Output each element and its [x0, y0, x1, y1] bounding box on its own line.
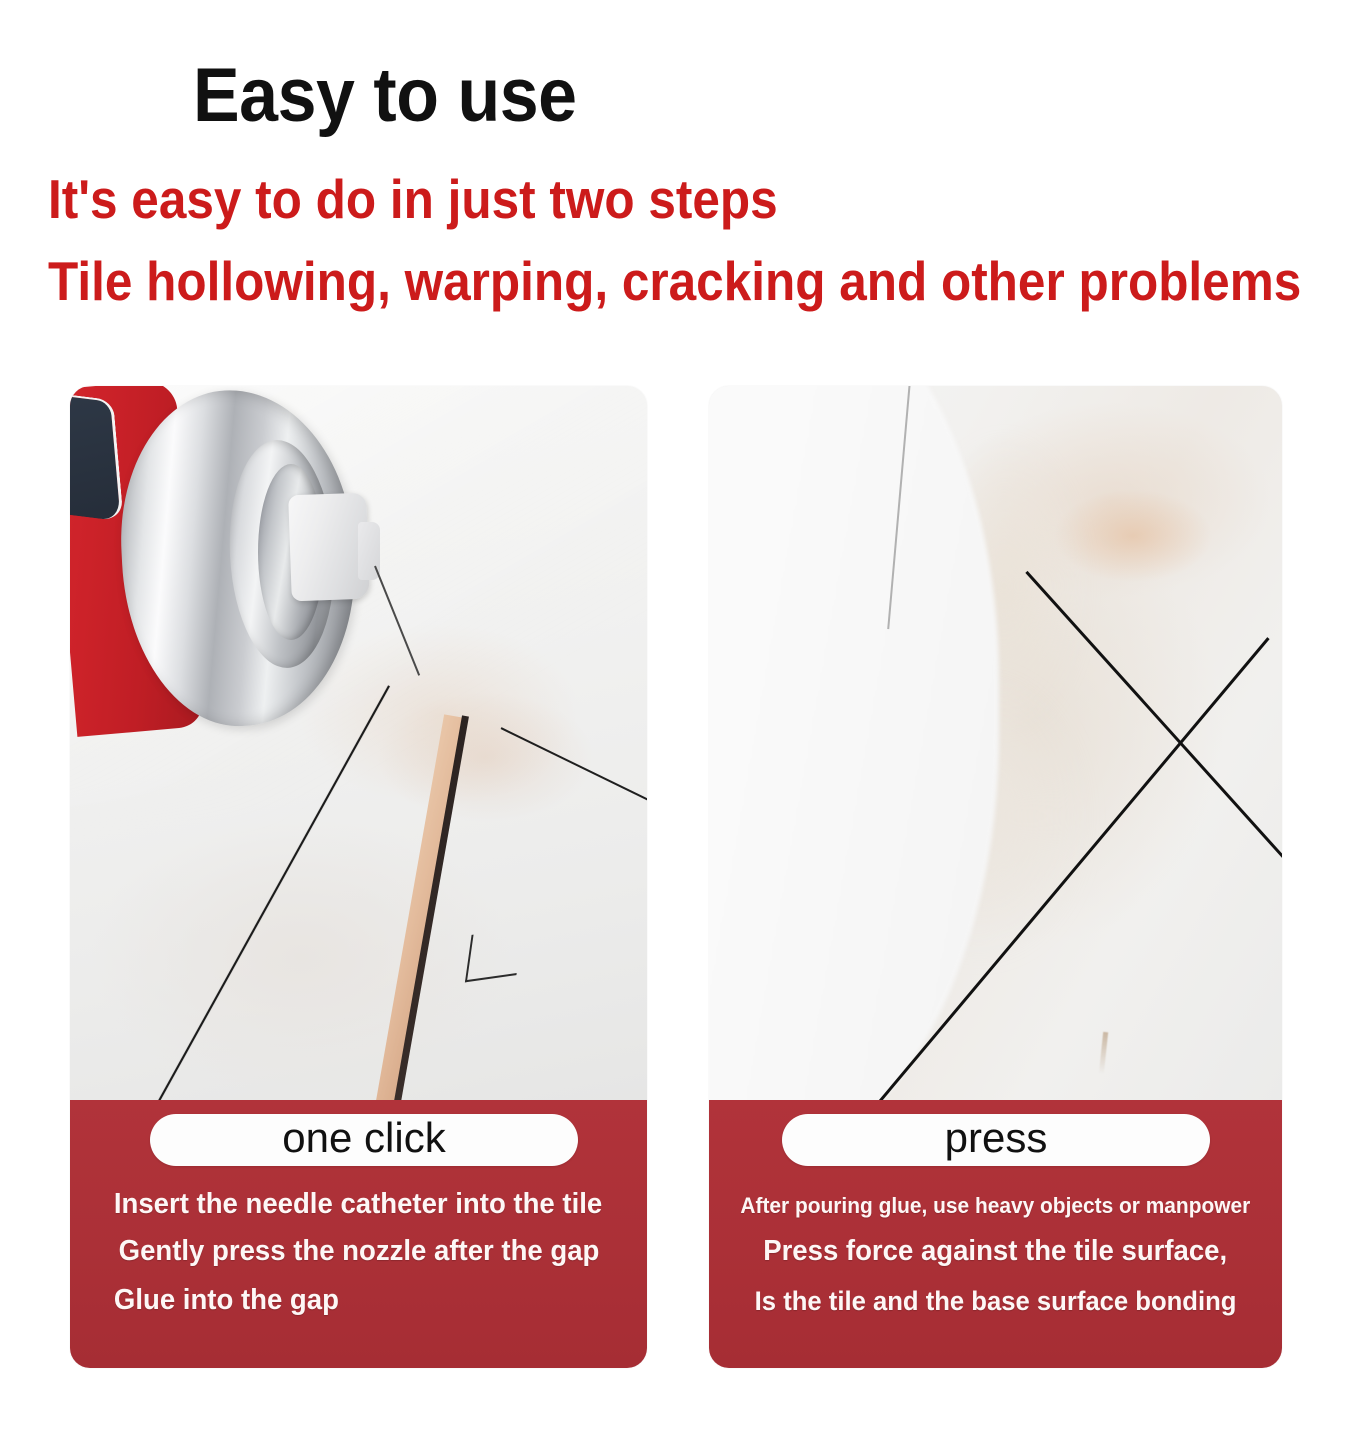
- step-card-press[interactable]: press After pouring glue, use heavy obje…: [709, 386, 1282, 1368]
- step-one-lines: Insert the needle catheter into the tile…: [70, 1184, 647, 1317]
- step-one-caption-panel: one click Insert the needle catheter int…: [70, 1100, 647, 1368]
- subtitle-line-2: Tile hollowing, warping, cracking and ot…: [48, 254, 1301, 309]
- tile-crack-icon: [465, 928, 523, 983]
- step-one-badge[interactable]: one click: [150, 1114, 578, 1166]
- glue-spray-can: [70, 386, 392, 734]
- steps-container: one click Insert the needle catheter int…: [0, 386, 1350, 1368]
- step-one-badge-label: one click: [282, 1117, 445, 1159]
- step-two-badge-label: press: [945, 1117, 1048, 1159]
- subtitle-line-1: It's easy to do in just two steps: [48, 172, 778, 227]
- step-card-one-click[interactable]: one click Insert the needle catheter int…: [70, 386, 647, 1368]
- step-two-lines: After pouring glue, use heavy objects or…: [709, 1184, 1282, 1317]
- step-two-photo: [709, 386, 1282, 1100]
- step-one-line-1: Insert the needle catheter into the tile: [114, 1188, 602, 1221]
- step-two-line-3: Is the tile and the base surface bonding: [755, 1286, 1237, 1317]
- step-two-line-1: After pouring glue, use heavy objects or…: [741, 1193, 1251, 1219]
- page-title: Easy to use: [193, 58, 577, 134]
- step-one-line-3: Glue into the gap: [114, 1284, 339, 1317]
- step-two-line-2: Press force against the tile surface,: [764, 1235, 1228, 1268]
- step-one-photo: [70, 386, 647, 1100]
- step-two-caption-panel: press After pouring glue, use heavy obje…: [709, 1100, 1282, 1368]
- step-one-line-2: Gently press the nozzle after the gap: [118, 1235, 599, 1268]
- step-two-badge[interactable]: press: [782, 1114, 1210, 1166]
